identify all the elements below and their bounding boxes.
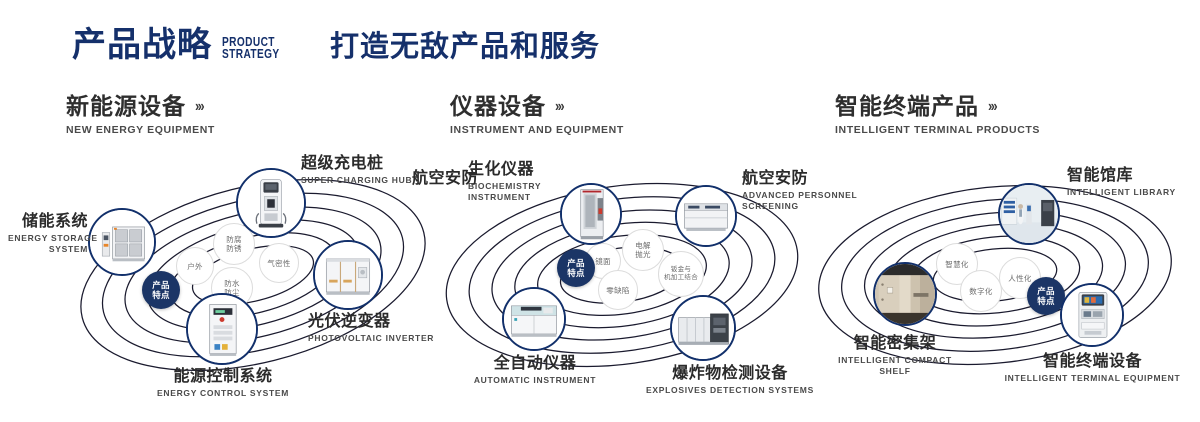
cluster-new-energy: 户外 防腐 防锈 防水 防尘 气密性 产品 特点: [58, 155, 448, 390]
page-title-en-line2: STRATEGY: [222, 48, 280, 60]
core-bubble-line2-0: 特点: [152, 290, 170, 300]
node-label-terminal-equipment: 智能终端设备 INTELLIGENT TERMINAL EQUIPMENT: [990, 353, 1195, 384]
feature-bubble-label-0-1b: 防锈: [226, 244, 242, 253]
node-label-intelligent-library: 智能馆库 INTELLIGENT LIBRARY: [1067, 167, 1176, 198]
section-heading-terminal: 智能终端产品››› INTELLIGENT TERMINAL PRODUCTS: [835, 94, 1040, 136]
node-label-en-2-1a: INTELLIGENT COMPACT: [795, 355, 995, 366]
node-label-cn-2-1: 智能密集架: [795, 335, 995, 353]
self-service-kiosk-icon: [1062, 285, 1122, 345]
node-label-cn-2-2: 智能终端设备: [990, 353, 1195, 371]
node-label-en-0-0b: SYSTEM: [8, 244, 88, 255]
screening-machine-icon: [677, 187, 735, 245]
chevrons-icon-1: ›››: [555, 98, 563, 116]
node-label-cn-0-0: 储能系统: [8, 213, 88, 231]
control-cabinet-icon: [188, 295, 256, 363]
node-label-charging-pile: 超级充电桩 SUPER CHARGING HUB: [301, 155, 412, 186]
chevrons-icon-0: ›››: [195, 98, 203, 116]
node-circle-intelligent-library[interactable]: [998, 183, 1060, 245]
feature-bubble-label-0-3: 气密性: [267, 259, 290, 268]
chevrons-icon-2: ›››: [988, 98, 996, 116]
node-label-en-2-2: INTELLIGENT TERMINAL EQUIPMENT: [990, 373, 1195, 384]
core-bubble-line1-0: 产品: [152, 280, 170, 290]
section-title-en-1: INSTRUMENT AND EQUIPMENT: [450, 124, 624, 136]
node-label-en-1-0b: INSTRUMENT: [468, 192, 541, 203]
core-bubble-2: 产品 特点: [1027, 277, 1065, 315]
node-label-en-2-1b: SHELF: [795, 366, 995, 377]
feature-bubble-label-2-1: 数字化: [969, 287, 992, 296]
section-title-cn-0: 新能源设备: [66, 94, 186, 119]
library-interior-icon: [1000, 185, 1058, 243]
core-bubble-line2-2: 特点: [1037, 296, 1055, 306]
feature-bubble-1-2: 钣金与 机加工结合: [658, 251, 704, 297]
node-label-en-0-0a: ENERGY STORAGE: [8, 233, 88, 244]
node-label-cn-0-3: 能源控制系统: [98, 368, 348, 386]
node-label-cn-2-0: 智能馆库: [1067, 167, 1176, 185]
node-label-en-1-0a: BIOCHEMISTRY: [468, 181, 541, 192]
section-title-en-2: INTELLIGENT TERMINAL PRODUCTS: [835, 124, 1040, 136]
feature-bubble-2-1: 数字化: [960, 270, 1002, 312]
node-label-en-0-3: ENERGY CONTROL SYSTEM: [98, 388, 348, 399]
feature-bubble-label-2-2: 人性化: [1008, 274, 1031, 283]
feature-bubble-label-0-2a: 防水: [224, 279, 240, 288]
cluster-terminal: 智慧化 数字化 人性化 产品 特点: [805, 155, 1195, 390]
feature-bubble-1-3: 零缺陷: [598, 270, 638, 310]
page-header: 产品战略 PRODUCT STRATEGY: [72, 28, 296, 62]
section-title-cn-1: 仪器设备: [450, 94, 546, 119]
feature-bubble-label-1-1a: 电解: [635, 241, 651, 250]
node-label-cn-0-1: 超级充电桩: [301, 155, 412, 173]
section-title-cn-2: 智能终端产品: [835, 94, 979, 119]
node-circle-screening[interactable]: [675, 185, 737, 247]
pv-inverter-icon: [315, 242, 381, 308]
node-circle-biochemistry[interactable]: [560, 183, 622, 245]
biochemistry-scanner-icon: [562, 185, 620, 243]
core-bubble-1: 产品 特点: [557, 249, 595, 287]
core-bubble-line1-2: 产品: [1037, 286, 1055, 296]
feature-bubble-1-1: 电解 抛光: [622, 229, 664, 271]
node-label-energy-storage: 储能系统 ENERGY STORAGE SYSTEM: [8, 213, 88, 255]
core-bubble-0: 产品 特点: [142, 271, 180, 309]
node-label-en-2-0: INTELLIGENT LIBRARY: [1067, 187, 1176, 198]
node-circle-automatic-instrument[interactable]: [502, 287, 566, 351]
node-circle-control-system[interactable]: [186, 293, 258, 365]
feature-bubble-label-0-0: 户外: [187, 262, 203, 271]
section-title-en-0: NEW ENERGY EQUIPMENT: [66, 124, 215, 136]
core-bubble-line1-1: 产品: [567, 258, 585, 268]
feature-bubble-label-1-0: 镜面: [595, 257, 611, 266]
page-title-en: PRODUCT STRATEGY: [222, 36, 280, 60]
node-circle-explosives-detector[interactable]: [670, 295, 736, 361]
node-label-en-0-1: SUPER CHARGING HUB: [301, 175, 412, 186]
node-label-cn-0-2: 光伏逆变器: [308, 313, 434, 331]
core-bubble-line2-1: 特点: [567, 268, 585, 278]
feature-bubble-label-1-3: 零缺陷: [606, 286, 629, 295]
page-subtitle: 打造无敌产品和服务: [330, 30, 600, 65]
charging-pile-icon: [238, 170, 304, 236]
feature-bubble-label-1-2b: 机加工结合: [664, 274, 698, 282]
node-circle-energy-storage[interactable]: [88, 208, 156, 276]
node-circle-pv-inverter[interactable]: [313, 240, 383, 310]
node-label-biochemistry: 生化仪器 BIOCHEMISTRY INSTRUMENT: [468, 161, 541, 203]
cluster-instrument: 镜面 电解 抛光 钣金与 机加工结合 零缺陷 产品 特点 航空安防: [430, 155, 820, 390]
compact-shelf-icon: [875, 264, 935, 324]
product-strategy-infographic: 产品战略 PRODUCT STRATEGY 打造无敌产品和服务 新能源设备›››…: [0, 0, 1200, 422]
feature-bubble-label-2-0: 智慧化: [945, 260, 968, 269]
feature-bubble-0-0: 户外: [176, 247, 214, 285]
node-circle-charging-pile[interactable]: [236, 168, 306, 238]
energy-storage-cabinet-icon: [90, 210, 154, 274]
node-circle-compact-shelf[interactable]: [873, 262, 937, 326]
automatic-analyzer-icon: [504, 289, 564, 349]
node-circle-terminal-equipment[interactable]: [1060, 283, 1124, 347]
feature-bubble-label-1-2a: 钣金与: [671, 266, 691, 274]
feature-bubble-0-3: 气密性: [259, 243, 299, 283]
node-label-control-system: 能源控制系统 ENERGY CONTROL SYSTEM: [98, 368, 348, 399]
feature-bubble-label-0-1a: 防腐: [226, 235, 242, 244]
section-heading-new-energy: 新能源设备››› NEW ENERGY EQUIPMENT: [66, 94, 215, 136]
explosives-detector-icon: [672, 297, 734, 359]
feature-bubble-label-1-1b: 抛光: [635, 250, 651, 259]
page-title-cn: 产品战略: [72, 28, 212, 62]
section-heading-instrument: 仪器设备››› INSTRUMENT AND EQUIPMENT: [450, 94, 624, 136]
node-label-compact-shelf: 智能密集架 INTELLIGENT COMPACT SHELF: [795, 335, 995, 377]
node-label-pv-inverter: 光伏逆变器 PHOTOVOLTAIC INVERTER: [308, 313, 434, 344]
node-label-en-0-2: PHOTOVOLTAIC INVERTER: [308, 333, 434, 344]
node-label-cn-1-0: 生化仪器: [468, 161, 541, 179]
